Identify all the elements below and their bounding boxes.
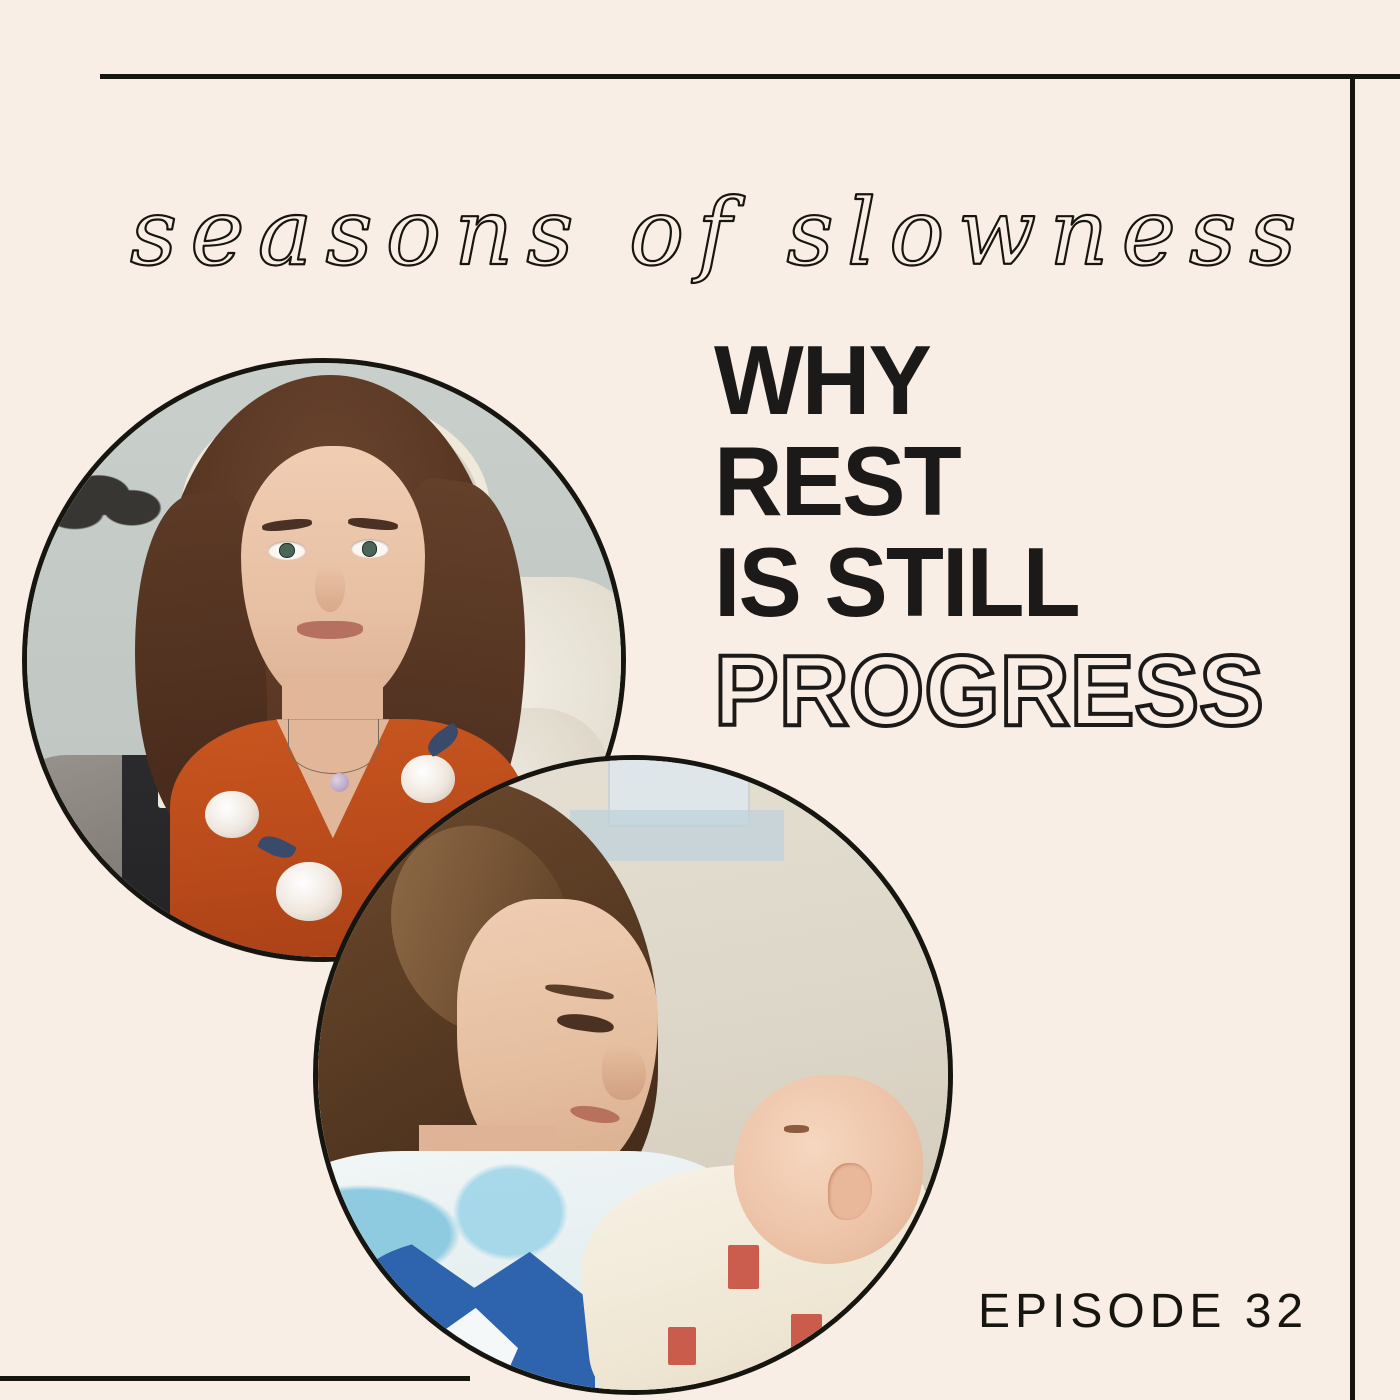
title-line-3: IS STILL <box>714 532 1315 633</box>
newborn-baby-head <box>734 1075 923 1264</box>
newborn-baby-eye <box>784 1125 809 1133</box>
title-line-outline: PROGRESS <box>714 641 1315 742</box>
horizontal-rule-top <box>100 74 1400 79</box>
title-line-1: WHY <box>714 330 1315 431</box>
swaddle-print <box>728 1245 760 1289</box>
wall-accent-band <box>570 810 784 860</box>
title-line-2: REST <box>714 431 1315 532</box>
swaddle-print <box>668 1327 696 1365</box>
swaddle-print <box>866 1296 891 1328</box>
episode-title: WHY REST IS STILL PROGRESS <box>714 330 1334 742</box>
podcast-name-text: seasons of slowness <box>130 179 1309 286</box>
host-pupil-right <box>362 541 377 556</box>
guest-nose <box>602 1044 646 1101</box>
podcast-cover-art: seasons of slowness WHY REST IS STILL PR… <box>0 0 1400 1400</box>
guest-portrait-illustration <box>318 760 948 1390</box>
podcast-name: seasons of slowness <box>130 168 1330 298</box>
dress-flower <box>205 791 258 839</box>
guest-portrait-photo <box>313 755 953 1395</box>
host-nose <box>315 565 345 613</box>
episode-number-label: EPISODE 32 <box>978 1284 1308 1339</box>
swaddle-print <box>791 1314 823 1352</box>
wall-decor-icon <box>51 458 170 541</box>
vertical-rule-right <box>1350 74 1355 1400</box>
